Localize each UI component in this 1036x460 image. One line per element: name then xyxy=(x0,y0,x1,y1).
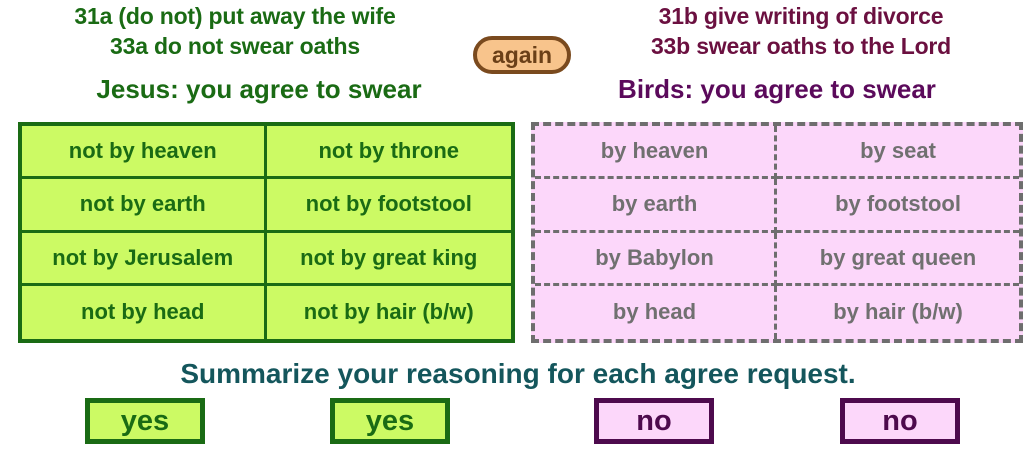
table-cell: by great queen xyxy=(777,233,1019,286)
verse-line-31b: 31b give writing of divorce xyxy=(566,3,1036,30)
table-cell: not by head xyxy=(22,286,267,339)
table-cell: by Babylon xyxy=(535,233,777,286)
header-block: 31a (do not) put away the wife 33a do no… xyxy=(0,0,1036,118)
birds-column-header: Birds: you agree to swear xyxy=(518,74,1036,105)
table-cell: not by footstool xyxy=(267,179,512,232)
table-cell: by footstool xyxy=(777,179,1019,232)
table-cell: by head xyxy=(535,286,777,339)
again-badge: again xyxy=(473,36,571,74)
table-cell: by heaven xyxy=(535,126,777,179)
birds-oath-table: by heaven by seat by earth by footstool … xyxy=(531,122,1023,343)
table-cell: not by earth xyxy=(22,179,267,232)
jesus-column-header: Jesus: you agree to swear xyxy=(0,74,518,105)
table-cell: not by heaven xyxy=(22,126,267,179)
answer-box-1[interactable]: yes xyxy=(85,398,205,444)
table-cell: not by hair (b/w) xyxy=(267,286,512,339)
table-cell: by earth xyxy=(535,179,777,232)
jesus-oath-table: not by heaven not by throne not by earth… xyxy=(18,122,515,343)
table-cell: by seat xyxy=(777,126,1019,179)
answer-box-4[interactable]: no xyxy=(840,398,960,444)
verse-line-33a: 33a do not swear oaths xyxy=(0,33,470,60)
verse-line-33b: 33b swear oaths to the Lord xyxy=(566,33,1036,60)
answer-box-2[interactable]: yes xyxy=(330,398,450,444)
summarize-instruction: Summarize your reasoning for each agree … xyxy=(0,358,1036,390)
table-cell: by hair (b/w) xyxy=(777,286,1019,339)
table-cell: not by great king xyxy=(267,233,512,286)
answer-box-3[interactable]: no xyxy=(594,398,714,444)
table-cell: not by Jerusalem xyxy=(22,233,267,286)
verse-line-31a: 31a (do not) put away the wife xyxy=(0,3,470,30)
table-cell: not by throne xyxy=(267,126,512,179)
